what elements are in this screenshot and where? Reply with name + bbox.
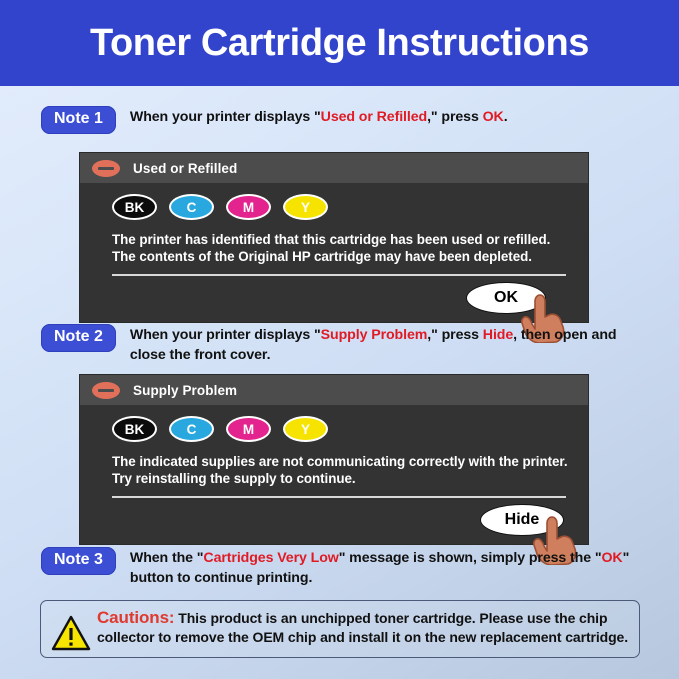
minus-circle-icon bbox=[92, 160, 120, 177]
note-badge-2: Note 2 bbox=[41, 324, 116, 352]
dialog-message-2-line2: Try reinstalling the supply to continue. bbox=[112, 470, 568, 487]
note-row-1: Note 1 When your printer displays "Used … bbox=[41, 106, 641, 134]
cartridge-chip-group-2: BK C M Y bbox=[80, 416, 588, 442]
cartridge-chip-bk: BK bbox=[112, 416, 157, 442]
dialog-message-1-line1: The printer has identified that this car… bbox=[112, 231, 568, 248]
page-header: Toner Cartridge Instructions bbox=[0, 0, 679, 86]
note-badge-1: Note 1 bbox=[41, 106, 116, 134]
dialog-message-1-line2: The contents of the Original HP cartridg… bbox=[112, 248, 568, 265]
cartridge-chip-y: Y bbox=[283, 194, 328, 220]
dialog-title-bar-1: Used or Refilled bbox=[80, 153, 588, 183]
note1-seg-2: ," press bbox=[427, 109, 483, 125]
dialog-message-2: The indicated supplies are not communica… bbox=[80, 442, 588, 487]
dialog-title-2: Supply Problem bbox=[133, 383, 237, 398]
cartridge-chip-c: C bbox=[169, 416, 214, 442]
note2-seg-1: Supply Problem bbox=[321, 327, 428, 343]
caution-text: Cautions: This product is an unchipped t… bbox=[97, 609, 629, 646]
printer-dialog-used-or-refilled: Used or Refilled BK C M Y The printer ha… bbox=[79, 152, 589, 323]
note1-seg-4: . bbox=[504, 109, 508, 125]
dialog-actions-1: OK bbox=[80, 276, 588, 322]
minus-circle-icon bbox=[92, 382, 120, 399]
dialog-actions-2: Hide bbox=[80, 498, 588, 544]
note3-seg-1: Cartridges Very Low bbox=[203, 550, 338, 566]
note-badge-3: Note 3 bbox=[41, 547, 116, 575]
cartridge-chip-m: M bbox=[226, 194, 271, 220]
note-text-1: When your printer displays "Used or Refi… bbox=[130, 106, 508, 128]
dialog-body-1: BK C M Y The printer has identified that… bbox=[80, 183, 588, 322]
caution-label: Cautions: bbox=[97, 608, 174, 627]
note1-seg-0: When your printer displays " bbox=[130, 109, 321, 125]
note-row-2: Note 2 When your printer displays "Suppl… bbox=[41, 324, 641, 365]
note3-seg-0: When the " bbox=[130, 550, 204, 566]
caution-body: This product is an unchipped toner cartr… bbox=[97, 610, 628, 645]
note2-seg-3: Hide bbox=[483, 327, 513, 343]
note1-seg-3: OK bbox=[483, 109, 504, 125]
instruction-page: Toner Cartridge Instructions Note 1 When… bbox=[0, 0, 679, 679]
dialog-body-2: BK C M Y The indicated supplies are not … bbox=[80, 405, 588, 544]
note-text-2: When your printer displays "Supply Probl… bbox=[130, 324, 630, 365]
page-title: Toner Cartridge Instructions bbox=[90, 22, 589, 65]
note-text-3: When the "Cartridges Very Low" message i… bbox=[130, 547, 630, 588]
cartridge-chip-c: C bbox=[169, 194, 214, 220]
cartridge-chip-group-1: BK C M Y bbox=[80, 194, 588, 220]
note3-seg-2: " message is shown, simply press the " bbox=[339, 550, 602, 566]
cartridge-chip-m: M bbox=[226, 416, 271, 442]
note-row-3: Note 3 When the "Cartridges Very Low" me… bbox=[41, 547, 641, 588]
dialog-message-2-line1: The indicated supplies are not communica… bbox=[112, 453, 568, 470]
note2-seg-0: When your printer displays " bbox=[130, 327, 321, 343]
note1-seg-1: Used or Refilled bbox=[321, 109, 427, 125]
cartridge-chip-bk: BK bbox=[112, 194, 157, 220]
cartridge-chip-y: Y bbox=[283, 416, 328, 442]
note3-seg-3: OK bbox=[601, 550, 622, 566]
dialog-message-1: The printer has identified that this car… bbox=[80, 220, 588, 265]
printer-dialog-supply-problem: Supply Problem BK C M Y The indicated su… bbox=[79, 374, 589, 545]
dialog-title-1: Used or Refilled bbox=[133, 161, 237, 176]
dialog-title-bar-2: Supply Problem bbox=[80, 375, 588, 405]
note2-seg-2: ," press bbox=[427, 327, 483, 343]
caution-box: Cautions: This product is an unchipped t… bbox=[40, 600, 640, 658]
warning-triangle-icon bbox=[51, 615, 91, 651]
